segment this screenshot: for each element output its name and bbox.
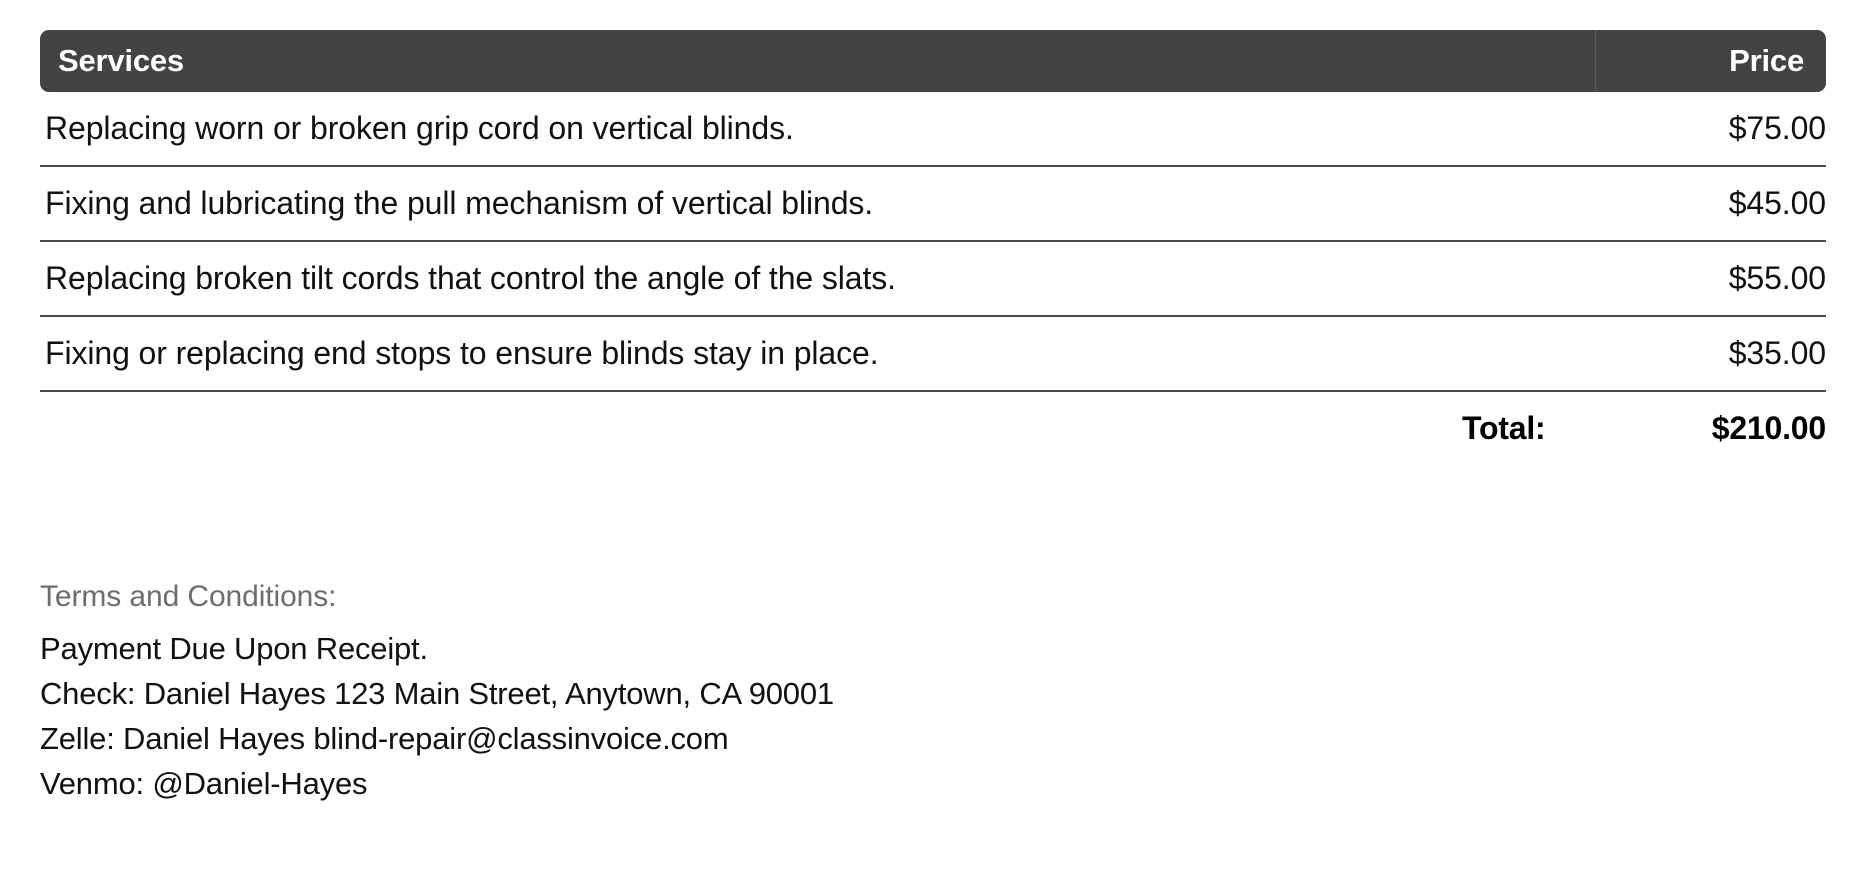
services-price-table: Services Price Replacing worn or broken … <box>40 30 1826 464</box>
table-footer: Total: $210.00 <box>40 391 1826 464</box>
terms-line-check: Check: Daniel Hayes 123 Main Street, Any… <box>40 671 1440 716</box>
total-amount: $210.00 <box>1596 391 1827 464</box>
table-header: Services Price <box>40 30 1826 92</box>
service-description: Replacing broken tilt cords that control… <box>40 241 1596 316</box>
service-description: Fixing or replacing end stops to ensure … <box>40 316 1596 391</box>
service-price: $35.00 <box>1596 316 1827 391</box>
terms-line-payment-due: Payment Due Upon Receipt. <box>40 626 1440 671</box>
column-header-price: Price <box>1596 30 1827 92</box>
table-body: Replacing worn or broken grip cord on ve… <box>40 92 1826 391</box>
service-price: $55.00 <box>1596 241 1827 316</box>
service-description: Replacing worn or broken grip cord on ve… <box>40 92 1596 166</box>
terms-line-venmo: Venmo: @Daniel-Hayes <box>40 761 1440 806</box>
terms-line-zelle: Zelle: Daniel Hayes blind-repair@classin… <box>40 716 1440 761</box>
table-header-row: Services Price <box>40 30 1826 92</box>
invoice-services-sheet: Services Price Replacing worn or broken … <box>0 0 1868 870</box>
service-description: Fixing and lubricating the pull mechanis… <box>40 166 1596 241</box>
column-header-services: Services <box>40 30 1596 92</box>
total-row: Total: $210.00 <box>40 391 1826 464</box>
table-row: Replacing broken tilt cords that control… <box>40 241 1826 316</box>
table-row: Fixing or replacing end stops to ensure … <box>40 316 1826 391</box>
total-label: Total: <box>40 391 1596 464</box>
terms-and-conditions-block: Terms and Conditions: Payment Due Upon R… <box>40 580 1440 806</box>
terms-heading: Terms and Conditions: <box>40 580 1440 614</box>
service-price: $75.00 <box>1596 92 1827 166</box>
service-price: $45.00 <box>1596 166 1827 241</box>
table-row: Fixing and lubricating the pull mechanis… <box>40 166 1826 241</box>
table-row: Replacing worn or broken grip cord on ve… <box>40 92 1826 166</box>
